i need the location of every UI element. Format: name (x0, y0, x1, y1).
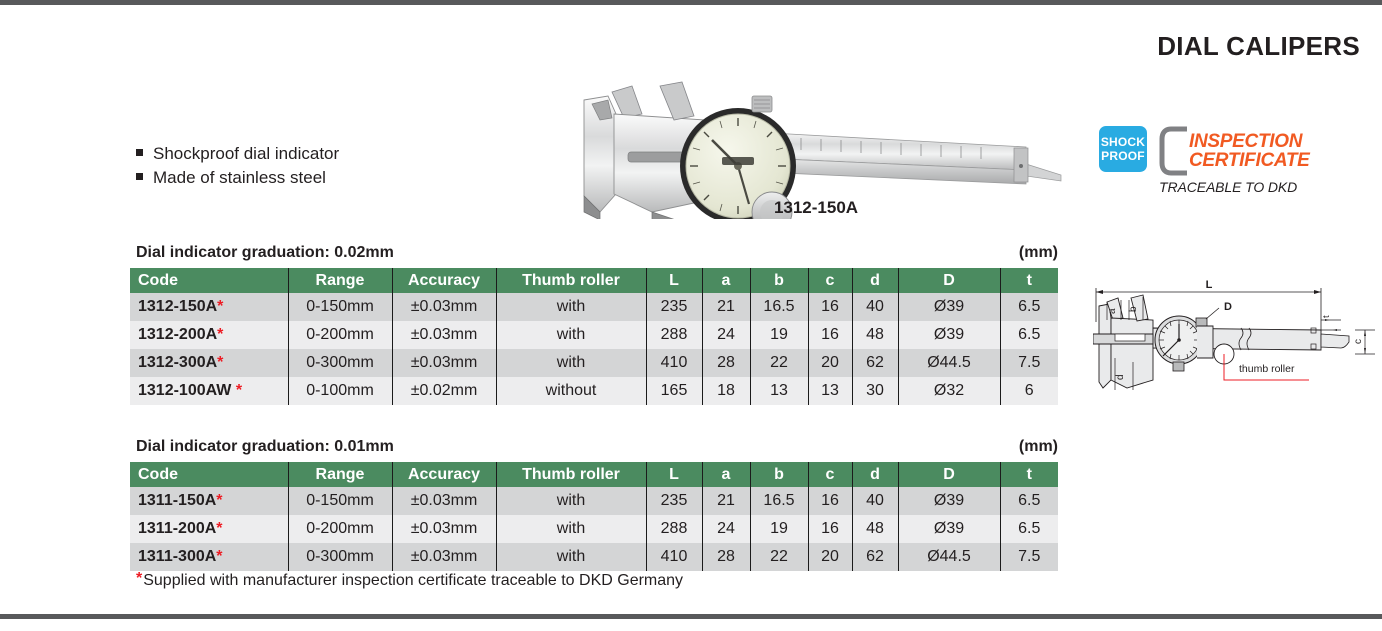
dim-label-D: D (1224, 301, 1232, 313)
cell-accuracy: ±0.03mm (392, 349, 496, 377)
certificate-line2: CERTIFICATE (1189, 151, 1310, 170)
cell-a: 18 (702, 377, 750, 405)
cell-b: 16.5 (750, 487, 808, 515)
cell-code: 1311-300A* (130, 543, 288, 571)
inspection-certificate-badge: INSPECTION CERTIFICATE TRACEABLE TO DKD (1159, 126, 1377, 195)
cell-range: 0-300mm (288, 543, 392, 571)
cell-range: 0-150mm (288, 487, 392, 515)
bullet-square-icon (136, 149, 143, 156)
column-header-D: D (898, 268, 1000, 293)
column-header-t: t (1000, 462, 1058, 487)
table-row: 1311-200A* 0-200mm ±0.03mm with 288 24 1… (130, 515, 1058, 543)
cell-t: 7.5 (1000, 349, 1058, 377)
bracket-icon (1159, 126, 1187, 176)
feature-label: Made of stainless steel (153, 166, 326, 190)
cell-a: 28 (702, 543, 750, 571)
table-2-unit: (mm) (960, 438, 1058, 456)
cell-accuracy: ±0.03mm (392, 543, 496, 571)
column-header-a: a (702, 268, 750, 293)
cell-thumb-roller: with (496, 293, 646, 321)
spec-table-001: Code Range Accuracy Thumb roller L a b c… (130, 462, 1058, 571)
table-row: 1311-300A* 0-300mm ±0.03mm with 410 28 2… (130, 543, 1058, 571)
cell-D: Ø44.5 (898, 349, 1000, 377)
cell-a: 24 (702, 515, 750, 543)
cell-c: 16 (808, 515, 852, 543)
cell-a: 28 (702, 349, 750, 377)
cell-a: 24 (702, 321, 750, 349)
dim-label-d: d (1115, 374, 1126, 380)
cell-a: 21 (702, 293, 750, 321)
page-top-rule (0, 0, 1382, 5)
table-row: 1311-150A* 0-150mm ±0.03mm with 235 21 1… (130, 487, 1058, 515)
cell-code: 1312-300A* (130, 349, 288, 377)
cell-D: Ø39 (898, 487, 1000, 515)
cell-code: 1311-150A* (130, 487, 288, 515)
bullet-square-icon (136, 173, 143, 180)
cell-D: Ø44.5 (898, 543, 1000, 571)
column-header-d: d (852, 268, 898, 293)
cell-b: 22 (750, 349, 808, 377)
column-header-L: L (646, 268, 702, 293)
cell-thumb-roller: with (496, 543, 646, 571)
product-photo-caption: 1312-150A (556, 198, 1076, 218)
cell-L: 288 (646, 515, 702, 543)
cell-range: 0-300mm (288, 349, 392, 377)
cell-d: 62 (852, 349, 898, 377)
column-header-a: a (702, 462, 750, 487)
cell-t: 7.5 (1000, 543, 1058, 571)
dim-label-L: L (1206, 279, 1213, 291)
dimension-drawing: L (1093, 262, 1378, 392)
dim-label-a: a (1107, 308, 1118, 314)
cell-D: Ø39 (898, 515, 1000, 543)
table-row: 1312-300A* 0-300mm ±0.03mm with 410 28 2… (130, 349, 1058, 377)
cell-range: 0-150mm (288, 293, 392, 321)
cell-c: 16 (808, 321, 852, 349)
feature-list: Shockproof dial indicator Made of stainl… (136, 142, 339, 190)
cell-thumb-roller: with (496, 349, 646, 377)
dim-label-b: b (1128, 306, 1139, 312)
footnote: *Supplied with manufacturer inspection c… (136, 570, 683, 590)
table-row: 1312-100AW * 0-100mm ±0.02mm without 165… (130, 377, 1058, 405)
table-header-row: Code Range Accuracy Thumb roller L a b c… (130, 268, 1058, 293)
cell-code: 1312-100AW * (130, 377, 288, 405)
column-header-range: Range (288, 268, 392, 293)
table-1-title: Dial indicator graduation: 0.02mm (136, 244, 394, 262)
shock-proof-line2: PROOF (1101, 149, 1145, 163)
column-header-accuracy: Accuracy (392, 462, 496, 487)
column-header-code: Code (130, 268, 288, 293)
table-2-title: Dial indicator graduation: 0.01mm (136, 438, 394, 456)
cell-t: 6.5 (1000, 487, 1058, 515)
cell-D: Ø39 (898, 293, 1000, 321)
cell-d: 30 (852, 377, 898, 405)
column-header-D: D (898, 462, 1000, 487)
cell-L: 288 (646, 321, 702, 349)
cell-L: 235 (646, 487, 702, 515)
dim-label-t: t (1321, 315, 1332, 318)
badge-group: SHOCK PROOF INSPECTION CERTIFICATE TRACE… (1099, 126, 1377, 195)
cell-b: 13 (750, 377, 808, 405)
cell-thumb-roller: without (496, 377, 646, 405)
cell-d: 48 (852, 321, 898, 349)
column-header-code: Code (130, 462, 288, 487)
cell-accuracy: ±0.03mm (392, 293, 496, 321)
footnote-asterisk: * (136, 570, 142, 587)
column-header-d: d (852, 462, 898, 487)
cell-thumb-roller: with (496, 321, 646, 349)
table-header-row: Code Range Accuracy Thumb roller L a b c… (130, 462, 1058, 487)
footnote-text: Supplied with manufacturer inspection ce… (143, 572, 683, 589)
list-item: Shockproof dial indicator (136, 142, 339, 166)
column-header-b: b (750, 462, 808, 487)
cell-L: 235 (646, 293, 702, 321)
cell-c: 16 (808, 293, 852, 321)
dim-callout-thumb-roller: thumb roller (1239, 363, 1295, 375)
cell-b: 19 (750, 515, 808, 543)
page-title: DIAL CALIPERS (1157, 31, 1360, 62)
cell-L: 410 (646, 349, 702, 377)
cell-t: 6.5 (1000, 321, 1058, 349)
table-row: 1312-200A* 0-200mm ±0.03mm with 288 24 1… (130, 321, 1058, 349)
cell-accuracy: ±0.03mm (392, 487, 496, 515)
cell-c: 20 (808, 349, 852, 377)
cell-thumb-roller: with (496, 487, 646, 515)
cell-b: 19 (750, 321, 808, 349)
dim-label-c: c (1353, 339, 1364, 344)
column-header-thumb-roller: Thumb roller (496, 462, 646, 487)
cell-accuracy: ±0.02mm (392, 377, 496, 405)
shock-proof-line1: SHOCK (1101, 135, 1145, 149)
cell-accuracy: ±0.03mm (392, 321, 496, 349)
column-header-c: c (808, 268, 852, 293)
cell-range: 0-200mm (288, 515, 392, 543)
cell-code: 1312-150A* (130, 293, 288, 321)
cell-t: 6.5 (1000, 515, 1058, 543)
cell-b: 16.5 (750, 293, 808, 321)
column-header-b: b (750, 268, 808, 293)
cell-code: 1311-200A* (130, 515, 288, 543)
cell-range: 0-100mm (288, 377, 392, 405)
certificate-line1: INSPECTION (1189, 132, 1310, 151)
cell-thumb-roller: with (496, 515, 646, 543)
cell-a: 21 (702, 487, 750, 515)
column-header-t: t (1000, 268, 1058, 293)
cell-accuracy: ±0.03mm (392, 515, 496, 543)
cell-c: 20 (808, 543, 852, 571)
cell-t: 6 (1000, 377, 1058, 405)
column-header-accuracy: Accuracy (392, 268, 496, 293)
column-header-range: Range (288, 462, 392, 487)
column-header-L: L (646, 462, 702, 487)
cell-c: 16 (808, 487, 852, 515)
column-header-c: c (808, 462, 852, 487)
feature-label: Shockproof dial indicator (153, 142, 339, 166)
cell-d: 40 (852, 487, 898, 515)
spec-table-002: Code Range Accuracy Thumb roller L a b c… (130, 268, 1058, 405)
cell-D: Ø39 (898, 321, 1000, 349)
table-row: 1312-150A* 0-150mm ±0.03mm with 235 21 1… (130, 293, 1058, 321)
cell-d: 48 (852, 515, 898, 543)
list-item: Made of stainless steel (136, 166, 339, 190)
product-photo (556, 44, 1076, 219)
cell-t: 6.5 (1000, 293, 1058, 321)
cell-d: 62 (852, 543, 898, 571)
cell-c: 13 (808, 377, 852, 405)
column-header-thumb-roller: Thumb roller (496, 268, 646, 293)
table-1-unit: (mm) (960, 244, 1058, 262)
page-bottom-rule (0, 614, 1382, 619)
cell-range: 0-200mm (288, 321, 392, 349)
cell-L: 165 (646, 377, 702, 405)
shock-proof-badge: SHOCK PROOF (1099, 126, 1147, 172)
cell-d: 40 (852, 293, 898, 321)
cell-L: 410 (646, 543, 702, 571)
cell-code: 1312-200A* (130, 321, 288, 349)
certificate-line3: TRACEABLE TO DKD (1159, 179, 1377, 195)
cell-b: 22 (750, 543, 808, 571)
cell-D: Ø32 (898, 377, 1000, 405)
